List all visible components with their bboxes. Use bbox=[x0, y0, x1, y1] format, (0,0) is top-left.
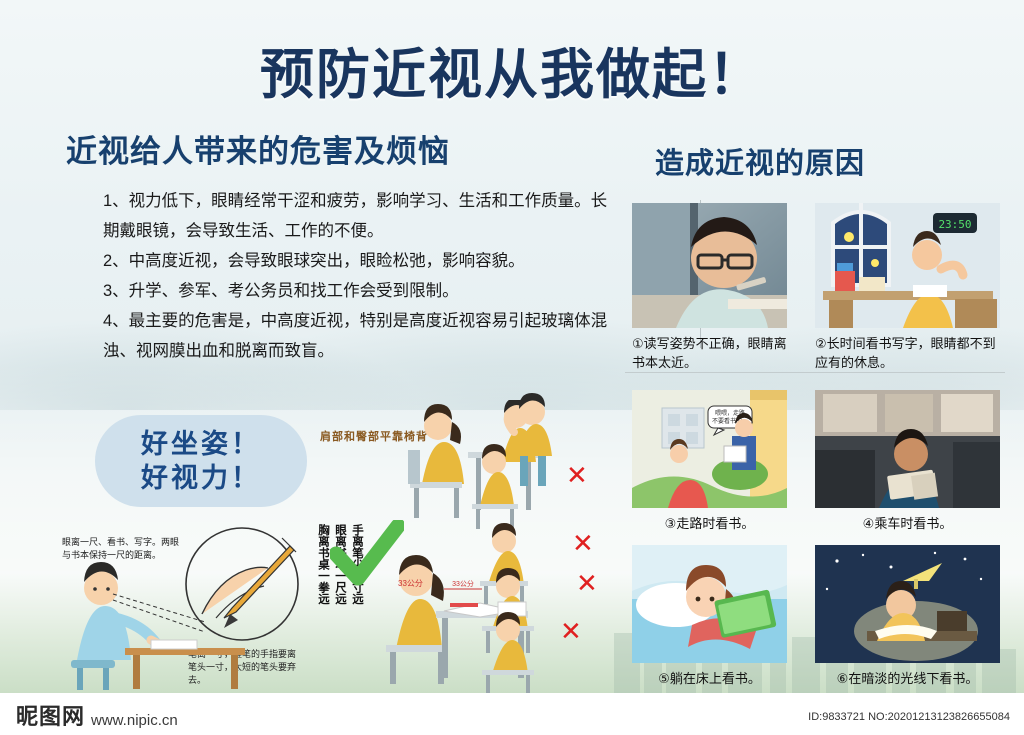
cause-photo-4 bbox=[815, 390, 1000, 508]
cause-cell-1: ①读写姿势不正确，眼睛离书本太近。 bbox=[632, 203, 787, 372]
cause-photo-6 bbox=[815, 545, 1000, 663]
posture-rule-chest: 胸离书桌一拳远 bbox=[316, 524, 329, 605]
site-logo[interactable]: 昵图网 www.nipic.cn bbox=[16, 699, 178, 731]
section-heading-harms: 近视给人带来的危害及烦恼 bbox=[66, 126, 450, 171]
cause-cell-3: 喂喂，走路 不要看书的。 ③走路时看书。 bbox=[632, 390, 787, 533]
section-heading-causes: 造成近视的原因 bbox=[655, 140, 865, 182]
harms-text-block: 1、视力低下，眼睛经常干涩和疲劳，影响学习、生活和工作质量。长期戴眼镜，会导致生… bbox=[103, 186, 613, 366]
cause-cell-5: ⑤躺在床上看书。 bbox=[632, 545, 787, 688]
cause-cell-2: 23:50 ②长时间看书写字，眼睛都不到应有的休息。 bbox=[815, 203, 1000, 372]
harm-item-4: 4、最主要的危害是，中高度近视，特别是高度近视容易引起玻璃体混浊、视网膜出血和脱… bbox=[103, 306, 613, 366]
slogan-box: 好坐姿！ 好视力！ bbox=[95, 415, 307, 507]
illustration-pencil-grip-circle bbox=[172, 522, 312, 652]
cause-caption-5: ⑤躺在床上看书。 bbox=[632, 669, 787, 688]
cross-icon-3: ✕ bbox=[576, 570, 598, 596]
slogan-line-2: 好视力！ bbox=[141, 461, 261, 495]
ruler-label: 33公分 bbox=[398, 578, 423, 589]
cause-caption-6: ⑥在暗淡的光线下看书。 bbox=[815, 669, 1000, 688]
cause-photo-1 bbox=[632, 203, 787, 328]
footer-bar: 昵图网 www.nipic.cn ID:9833721 NO:202012131… bbox=[0, 693, 1024, 735]
cause-caption-2: ②长时间看书写字，眼睛都不到应有的休息。 bbox=[815, 334, 1000, 372]
cross-icon-2: ✕ bbox=[572, 530, 594, 556]
cross-icon-4: ✕ bbox=[560, 618, 582, 644]
svg-text:23:50: 23:50 bbox=[938, 218, 971, 231]
poster-root: 预防近视从我做起！ 近视给人带来的危害及烦恼 1、视力低下，眼睛经常干涩和疲劳，… bbox=[0, 0, 1024, 735]
cause-photo-3: 喂喂，走路 不要看书的。 bbox=[632, 390, 787, 508]
cause-caption-3: ③走路时看书。 bbox=[632, 514, 787, 533]
harm-item-2: 2、中高度近视，会导致眼球突出，眼睑松弛，影响容貌。 bbox=[103, 246, 613, 276]
cause-cell-4: ④乘车时看书。 bbox=[815, 390, 1000, 533]
cause-caption-4: ④乘车时看书。 bbox=[815, 514, 1000, 533]
logo-url: www.nipic.cn bbox=[91, 712, 178, 729]
image-id-text: ID:9833721 NO:20201213123826655084 bbox=[808, 711, 1010, 723]
cause-cell-6: ⑥在暗淡的光线下看书。 bbox=[815, 545, 1000, 688]
illustration-posture-standing bbox=[492, 392, 582, 492]
cause-photo-2: 23:50 bbox=[815, 203, 1000, 328]
harm-item-1: 1、视力低下，眼睛经常干涩和疲劳，影响学习、生活和工作质量。长期戴眼镜，会导致生… bbox=[103, 186, 613, 246]
logo-text-cn: 昵图网 bbox=[16, 699, 85, 731]
harm-item-3: 3、升学、参军、考公务员和找工作会受到限制。 bbox=[103, 276, 613, 306]
column-divider-horizontal bbox=[625, 372, 1005, 373]
cause-photo-5 bbox=[632, 545, 787, 663]
slogan-line-1: 好坐姿！ bbox=[141, 427, 261, 461]
cause-caption-1: ①读写姿势不正确，眼睛离书本太近。 bbox=[632, 334, 787, 372]
page-title: 预防近视从我做起！ bbox=[0, 30, 1024, 109]
